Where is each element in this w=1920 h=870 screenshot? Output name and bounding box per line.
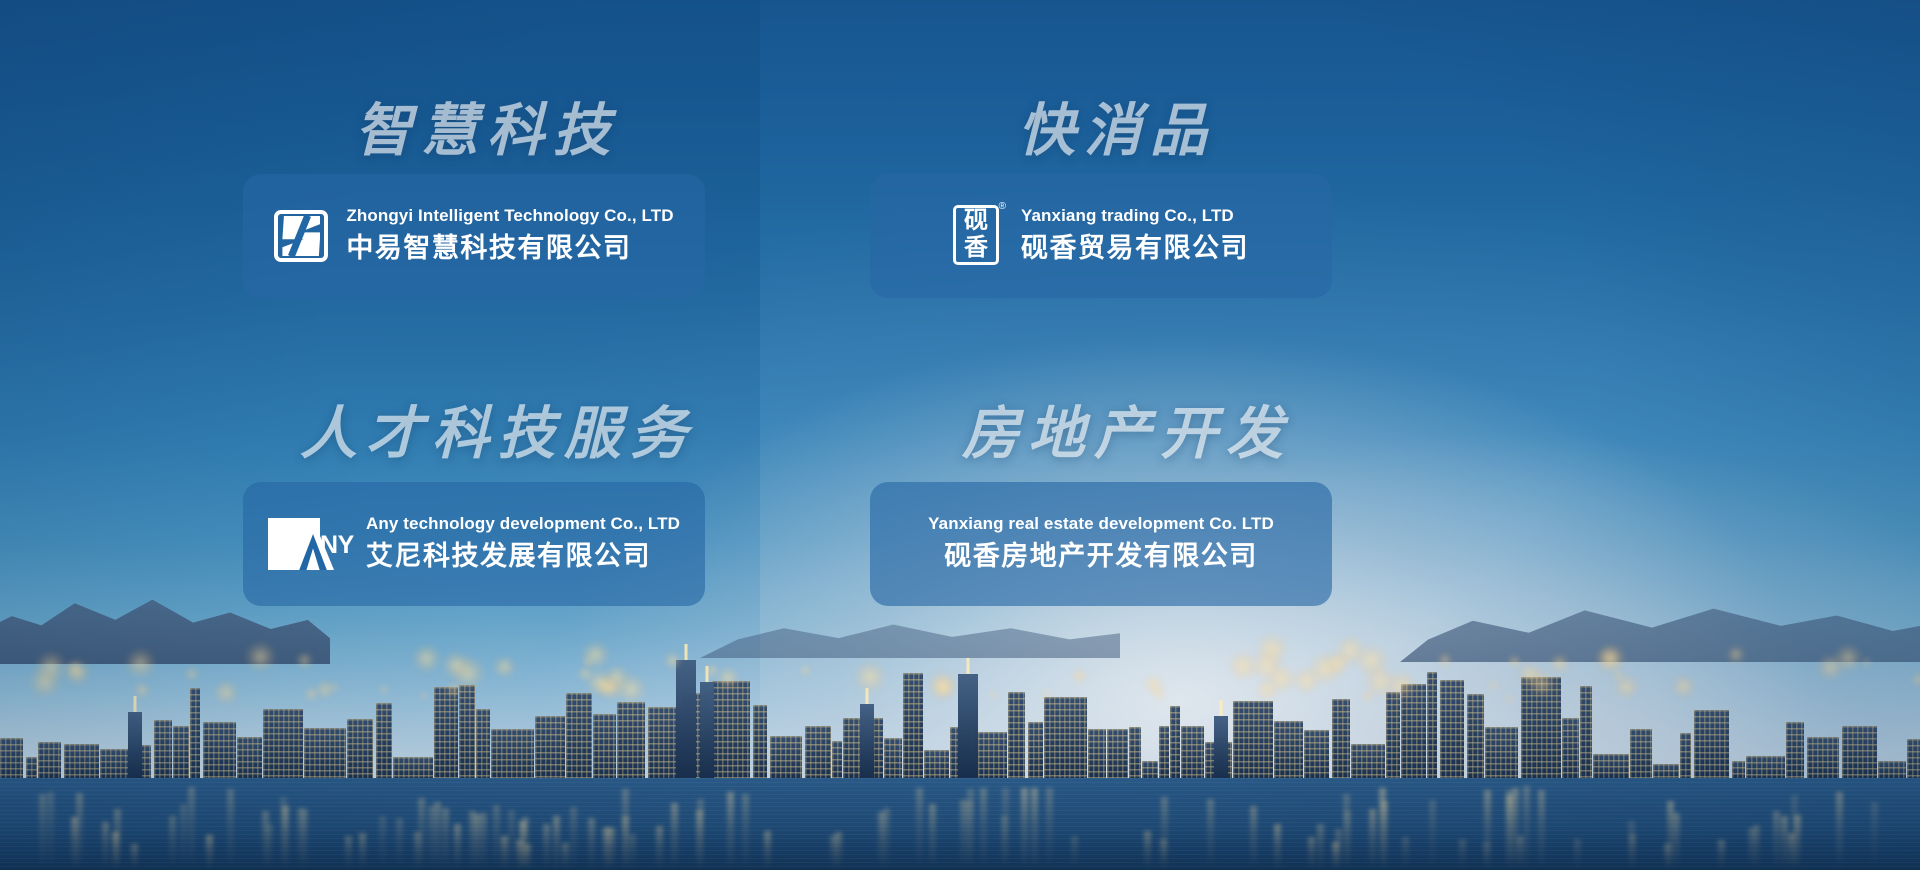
company-name-cn: 砚香贸易有限公司 — [1021, 230, 1249, 266]
any-wordmark: NY — [320, 533, 354, 558]
seal-char-yan: 砚 — [953, 208, 999, 234]
company-name-en: Yanxiang real estate development Co. LTD — [928, 513, 1274, 536]
zhongyi-logo-icon — [274, 210, 328, 262]
segment-heading-real-estate: 房地产开发 — [962, 406, 1292, 463]
seal-char-xiang: 香 — [953, 235, 999, 261]
registered-trademark-icon: ® — [999, 202, 1006, 212]
segment-card-talent-services[interactable]: NY Any technology development Co., LTD 艾… — [243, 482, 705, 606]
company-name-cn: 中易智慧科技有限公司 — [346, 230, 673, 266]
segment-card-fmcg[interactable]: 砚 香 ® Yanxiang trading Co., LTD 砚香贸易有限公司 — [870, 174, 1332, 298]
segment-heading-fmcg: 快消品 — [1018, 103, 1216, 160]
company-name-cn: 砚香房地产开发有限公司 — [944, 538, 1258, 574]
company-name-en: Zhongyi Intelligent Technology Co., LTD — [346, 205, 673, 228]
segment-heading-smart-technology: 智慧科技 — [355, 103, 619, 160]
company-name-cn: 艾尼科技发展有限公司 — [366, 538, 680, 574]
yanxiang-seal-logo-icon: 砚 香 ® — [953, 205, 1003, 267]
company-name-en: Yanxiang trading Co., LTD — [1021, 205, 1249, 228]
segment-heading-talent-services: 人才科技服务 — [300, 406, 696, 463]
segment-card-real-estate[interactable]: Yanxiang real estate development Co. LTD… — [870, 482, 1332, 606]
company-name-en: Any technology development Co., LTD — [366, 513, 680, 536]
segment-card-smart-technology[interactable]: Zhongyi Intelligent Technology Co., LTD … — [243, 174, 705, 298]
any-logo-icon: NY — [268, 518, 354, 570]
segments-content: 智慧科技 Zhongyi Intelligent Technology Co.,… — [0, 0, 1920, 870]
